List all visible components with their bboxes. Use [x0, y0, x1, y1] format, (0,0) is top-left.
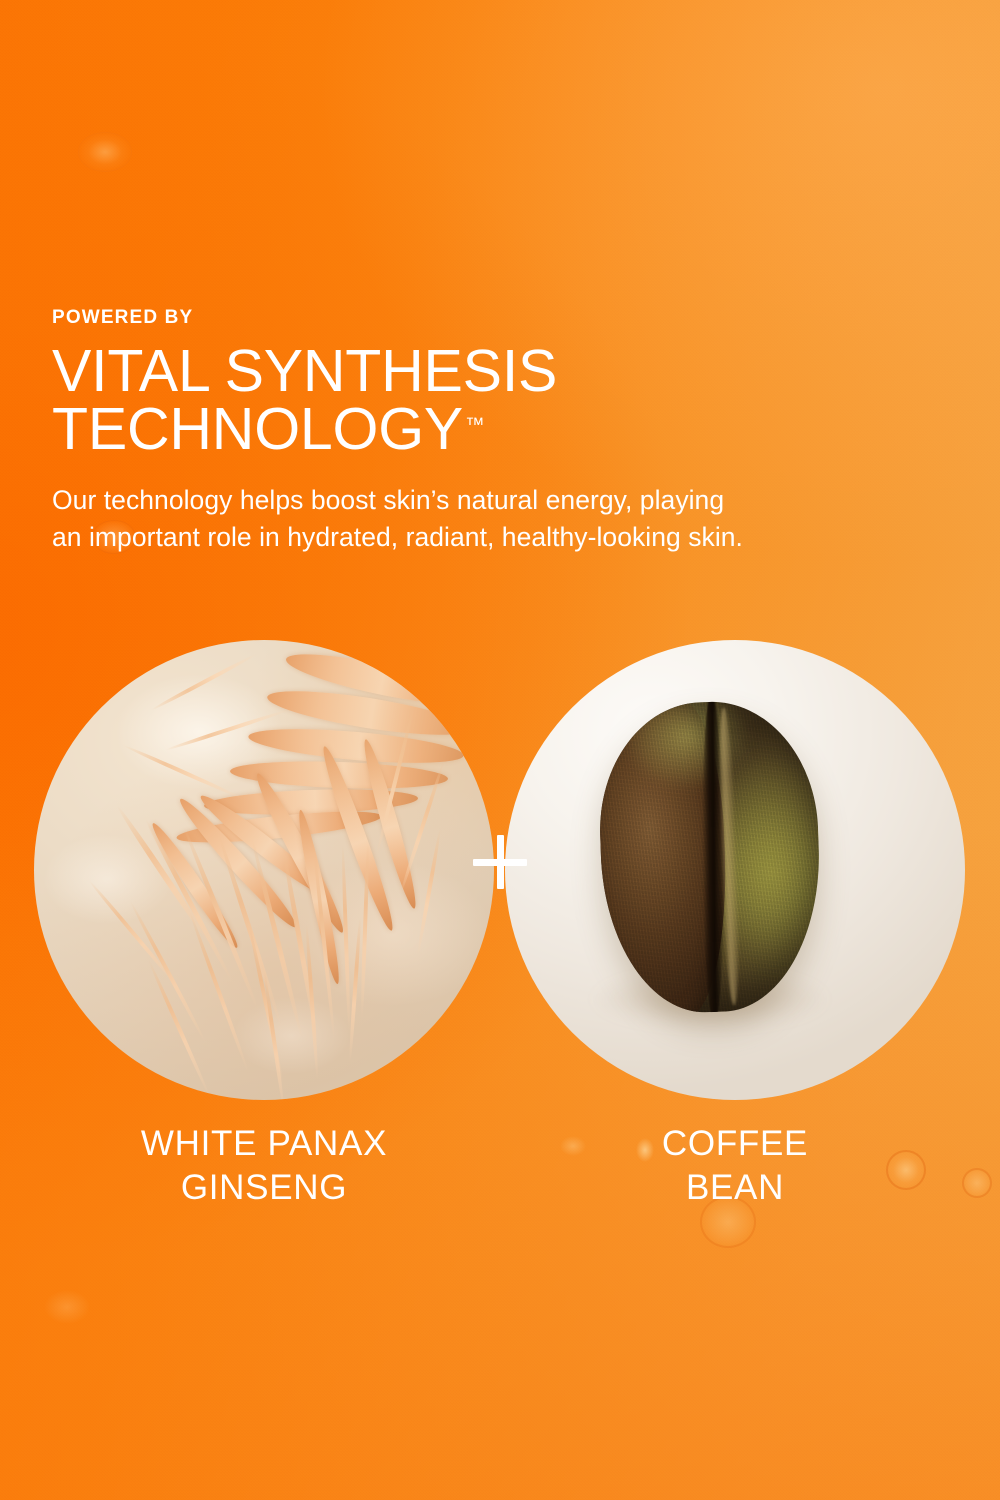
background-droplet	[78, 132, 132, 172]
ingredient-label-white-panax-ginseng: WHITE PANAX GINSENG	[34, 1122, 494, 1210]
ingredient-circle-coffee-bean	[505, 640, 965, 1100]
background-droplet	[44, 1290, 90, 1324]
headline-line-2: TECHNOLOGY™	[52, 400, 882, 458]
coffee-bean-photo	[505, 640, 965, 1100]
ingredient-circle-white-panax-ginseng	[34, 640, 494, 1100]
ingredient-label-line-2: BEAN	[505, 1166, 965, 1210]
background-droplet	[962, 1168, 992, 1198]
ginseng-shading	[34, 640, 494, 1100]
ingredient-label-coffee-bean: COFFEE BEAN	[505, 1122, 965, 1210]
plus-icon	[473, 835, 527, 889]
plus-icon-vertical-bar	[497, 835, 504, 889]
ingredient-technology-poster: POWERED BY VITAL SYNTHESIS TECHNOLOGY™ O…	[0, 0, 1000, 1500]
headline-block: POWERED BY VITAL SYNTHESIS TECHNOLOGY™ O…	[52, 308, 882, 557]
coffee-bean-subject	[596, 698, 825, 1015]
headline-line-2-text: TECHNOLOGY	[52, 396, 463, 462]
body-copy-line-2: an important role in hydrated, radiant, …	[52, 519, 882, 557]
body-copy-line-1: Our technology helps boost skin’s natura…	[52, 482, 882, 520]
body-copy: Our technology helps boost skin’s natura…	[52, 482, 882, 557]
ingredient-label-line-1: WHITE PANAX	[34, 1122, 494, 1166]
ginseng-photo	[34, 640, 494, 1100]
ingredient-label-line-2: GINSENG	[34, 1166, 494, 1210]
headline-line-1: VITAL SYNTHESIS	[52, 342, 882, 400]
eyebrow-label: POWERED BY	[52, 308, 882, 329]
ingredient-label-text: WHITE PANAX GINSENG	[34, 1122, 494, 1210]
ingredient-label-text: COFFEE BEAN	[505, 1122, 965, 1210]
page-title: VITAL SYNTHESIS TECHNOLOGY™	[52, 342, 882, 459]
trademark-symbol: ™	[465, 414, 485, 436]
ingredient-label-line-1: COFFEE	[505, 1122, 965, 1166]
